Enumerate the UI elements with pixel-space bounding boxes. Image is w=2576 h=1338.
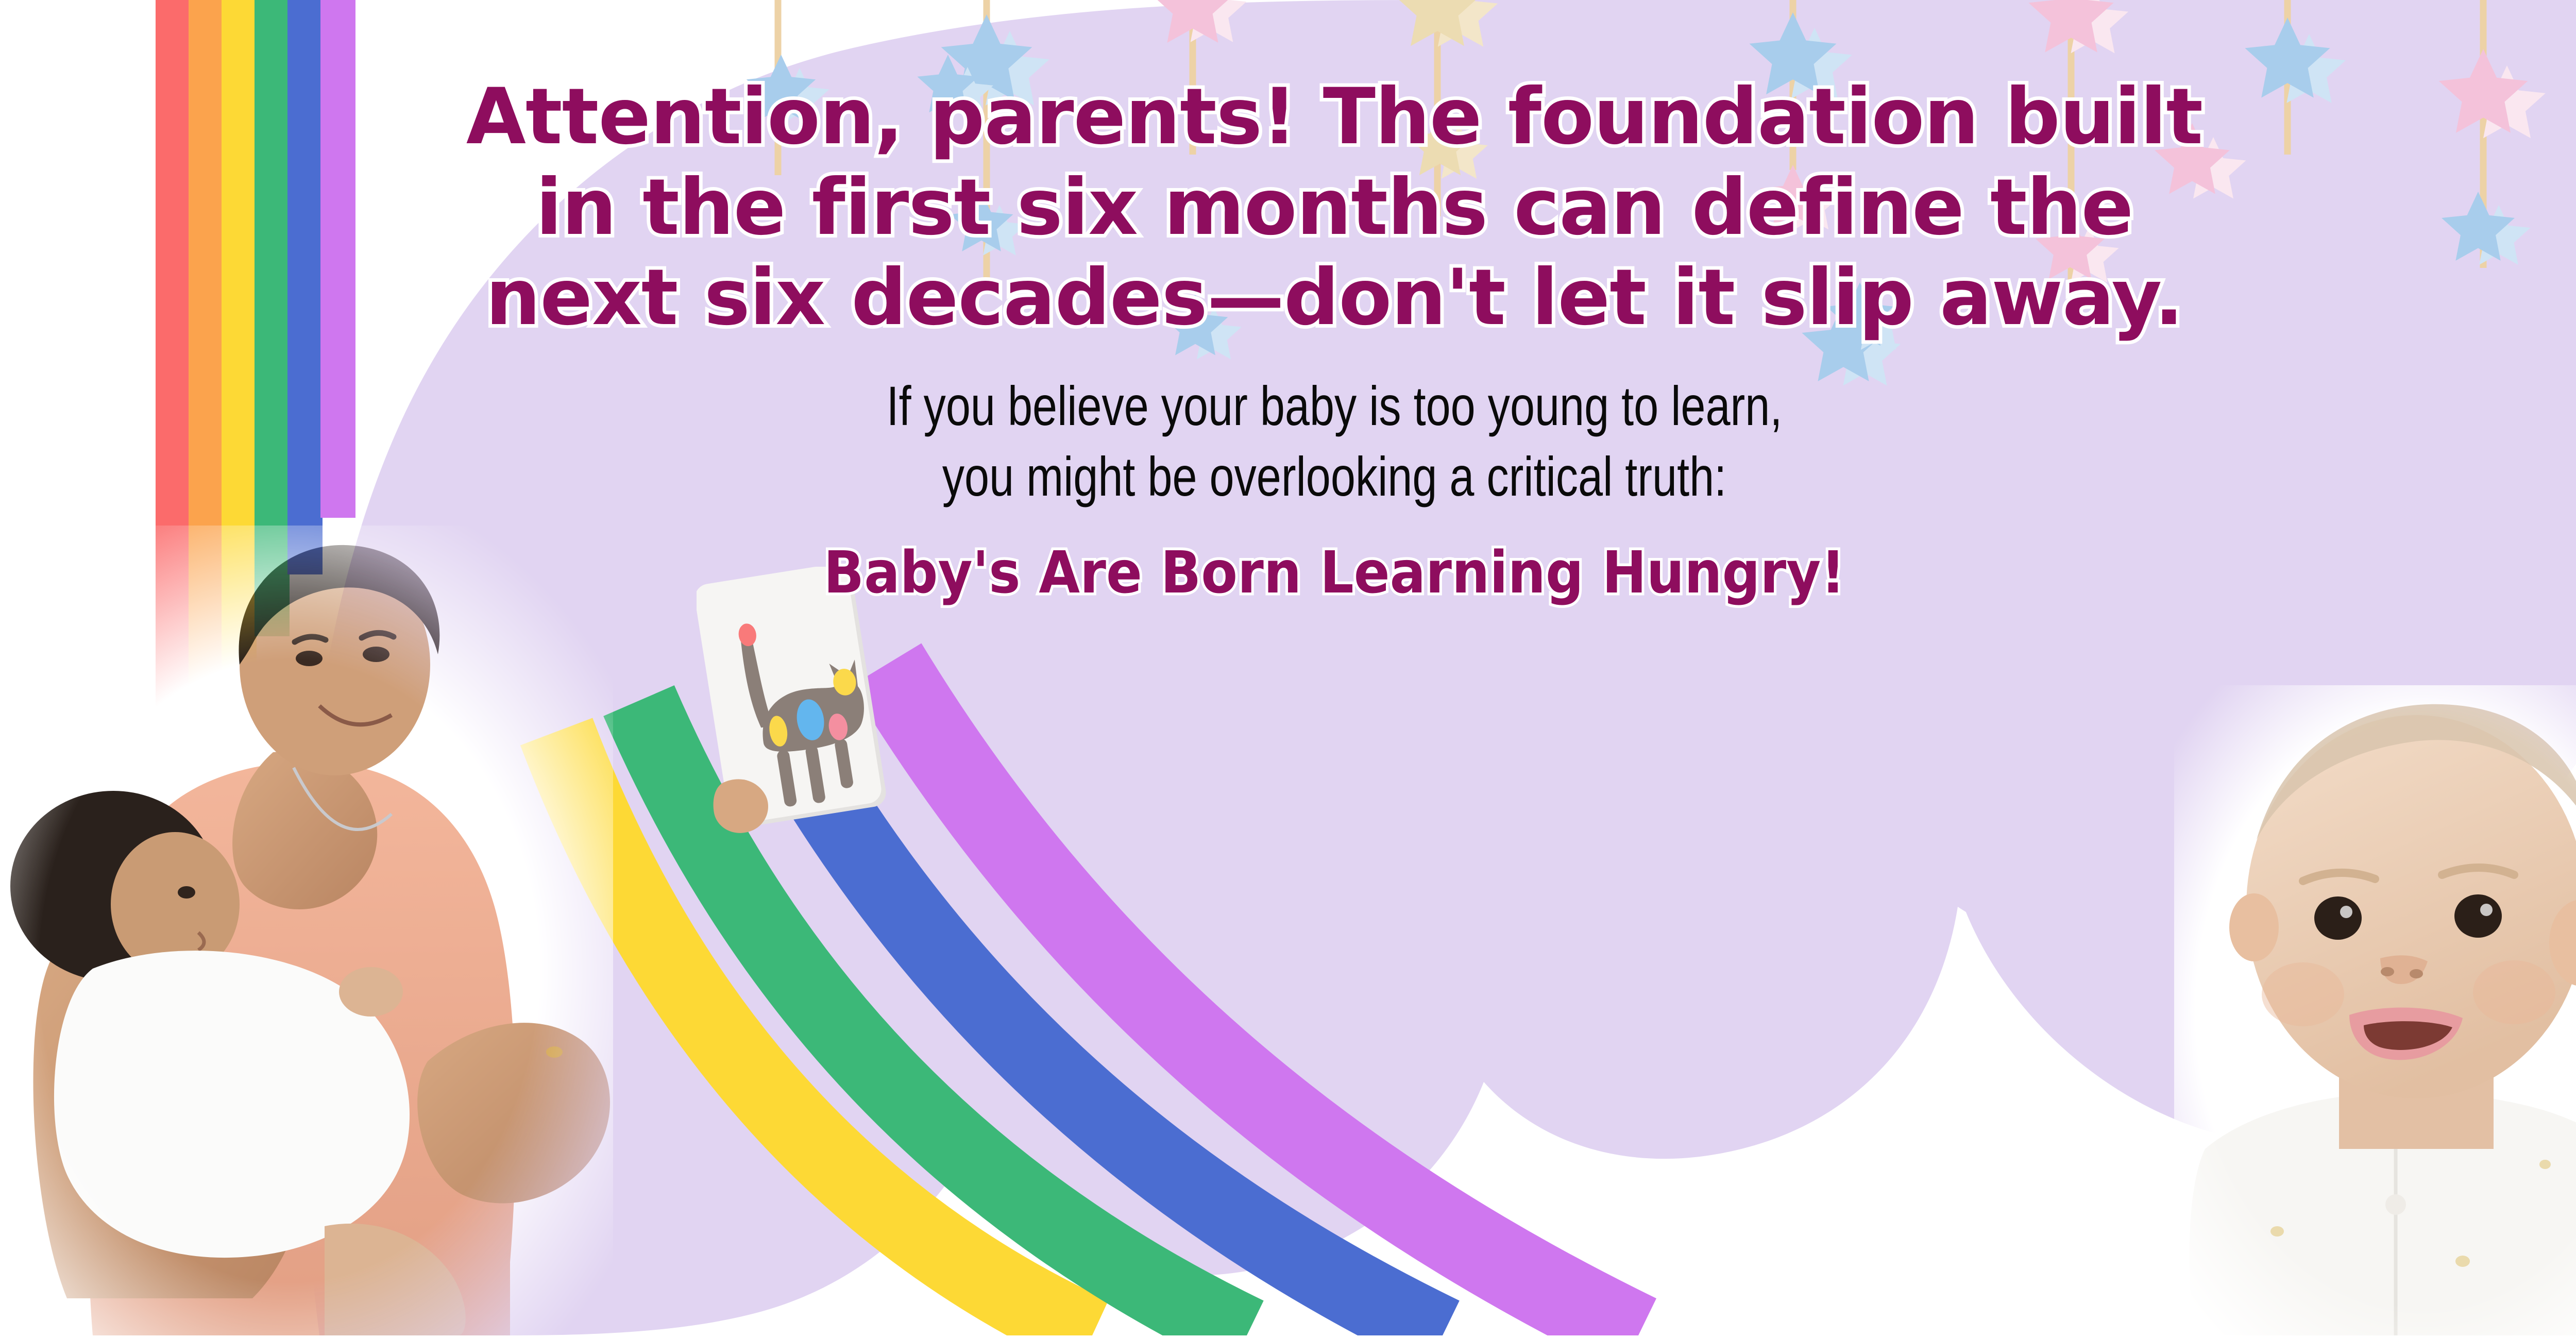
headline-line-3: next six decades—don't let it slip away. [289,253,2380,344]
headline: Attention, parents! The foundation built… [289,72,2380,344]
baby-eye-highlight-left [2340,906,2352,918]
mother-eye-right [363,647,389,662]
mother-ring [546,1046,563,1058]
baby-eye-left-right [2314,896,2362,940]
subtext-line-2: you might be overlooking a critical trut… [498,441,2171,512]
baby-eye [178,886,195,899]
subtext: If you believe your baby is too young to… [498,370,2171,512]
baby-cheek-left [2262,962,2344,1026]
baby-ear-left [2229,893,2279,961]
mother-baby-photo [0,526,613,1335]
headline-line-1: Attention, parents! The foundation built [289,72,2380,163]
baby-eye-highlight-right [2480,904,2493,916]
subtext-line-1: If you believe your baby is too young to… [498,370,2171,441]
text-block: Attention, parents! The foundation built… [289,72,2380,605]
baby-nostril-left [2381,967,2394,976]
baby-right-figure [2174,685,2576,1335]
onesie-button [2385,1194,2406,1215]
mother-eye-left [296,651,323,666]
headline-line-2: in the first six months can define the [289,163,2380,253]
mother-baby-figure [0,526,613,1335]
cat-flashcard [697,567,903,835]
baby-right-photo [2174,685,2576,1335]
baby-cheek-right [2473,960,2555,1024]
baby-hand [339,967,403,1017]
cta-headline: Baby's Are Born Learning Hungry! [372,541,2296,605]
baby-eye-right-right [2454,894,2502,938]
baby-nostril-right [2410,969,2423,978]
